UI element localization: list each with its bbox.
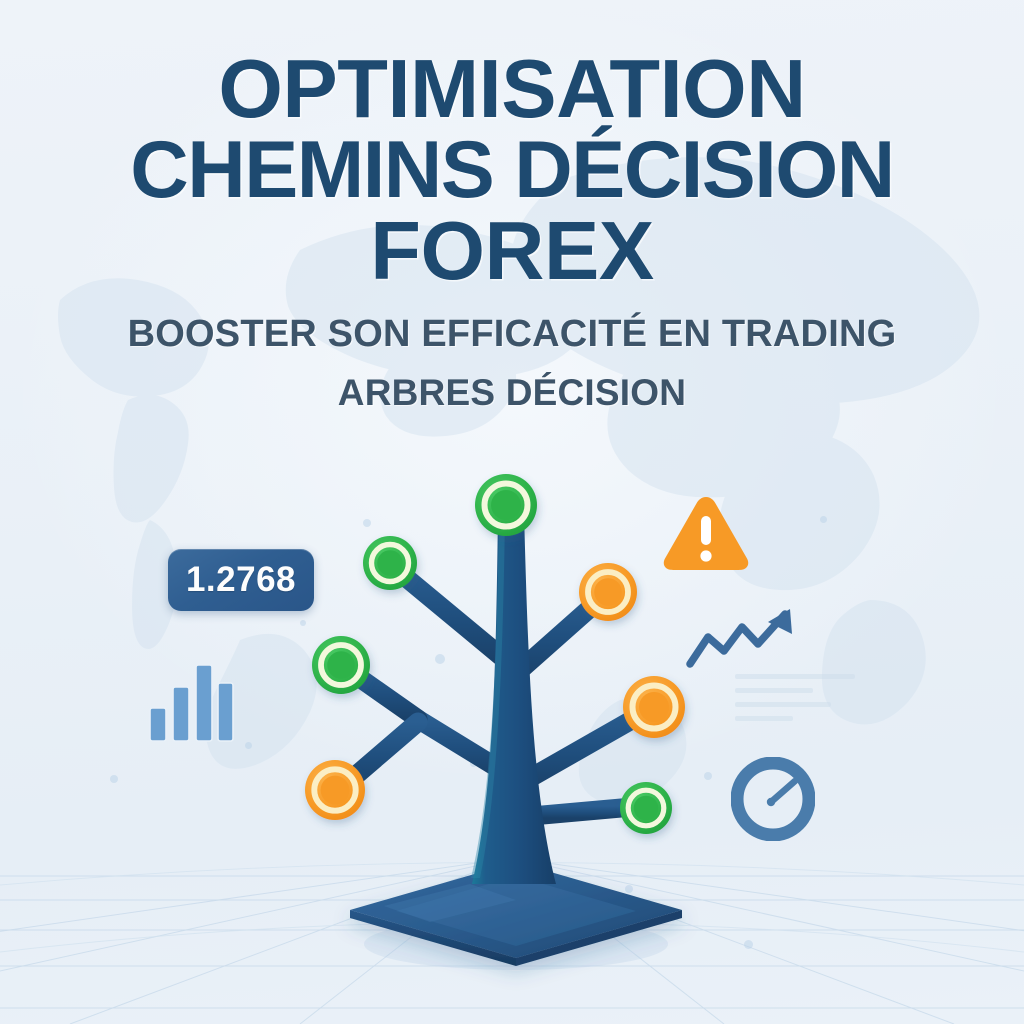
page-title-line-2: CHEMINS DÉCISION <box>0 130 1024 210</box>
tree-node-low-right <box>620 782 672 834</box>
tree-node-upper-left <box>363 536 417 590</box>
subtitle-line-1: BOOSTER SON EFFICACITÉ EN TRADING <box>0 313 1024 356</box>
bar-chart-icon <box>148 663 234 743</box>
tree-node-upper-right <box>579 563 637 621</box>
tree-node-low-left <box>305 760 365 820</box>
price-quote-value: 1.2768 <box>186 560 296 600</box>
trending-up-arrow-icon <box>686 607 798 671</box>
poster-canvas: OPTIMISATION CHEMINS DÉCISION FOREX BOOS… <box>0 0 1024 1024</box>
page-title-line-1: OPTIMISATION <box>0 48 1024 130</box>
page-title-line-3: FOREX <box>0 210 1024 292</box>
tree-node-top-center <box>475 474 537 536</box>
tree-node-mid-right <box>623 676 685 738</box>
warning-triangle-icon <box>660 492 752 574</box>
price-quote-badge[interactable]: 1.2768 <box>168 549 314 611</box>
heading-block: OPTIMISATION CHEMINS DÉCISION FOREX BOOS… <box>0 0 1024 414</box>
tree-node-mid-left <box>312 636 370 694</box>
gauge-icon <box>731 757 815 841</box>
subtitle-line-2: ARBRES DÉCISION <box>0 372 1024 414</box>
